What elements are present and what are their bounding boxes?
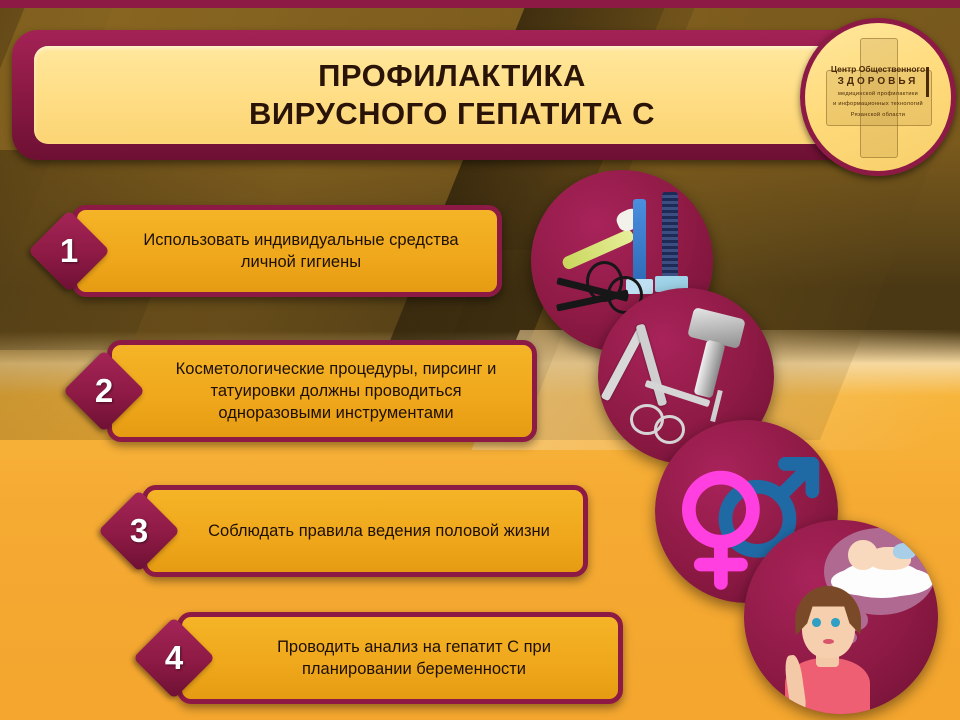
step-number-3: 3	[110, 512, 168, 550]
step-card-1: Использовать индивидуальные средства лич…	[72, 205, 502, 297]
step-number-4: 4	[145, 639, 203, 677]
step-text-2: Косметологические процедуры, пирсинг и т…	[112, 358, 532, 425]
razor-dark-icon	[662, 192, 678, 279]
title-banner: ПРОФИЛАКТИКА ВИРУСНОГО ГЕПАТИТА С	[12, 30, 892, 160]
woman-illustration	[779, 574, 876, 714]
organization-logo: Центр Общественного ЗДОРОВЬЯ медицинской…	[800, 18, 956, 176]
baby-cap-icon	[893, 543, 916, 559]
step-card-4: Проводить анализ на гепатит С при планир…	[177, 612, 623, 704]
page-title-line-2: ВИРУСНОГО ГЕПАТИТА С	[249, 95, 655, 133]
title-banner-inner: ПРОФИЛАКТИКА ВИРУСНОГО ГЕПАТИТА С	[34, 46, 870, 144]
step-item-4: Проводить анализ на гепатит С при планир…	[145, 612, 623, 704]
step-text-1: Использовать индивидуальные средства лич…	[77, 229, 497, 274]
step-item-2: Косметологические процедуры, пирсинг и т…	[75, 340, 537, 442]
razor-blue-icon	[633, 199, 646, 283]
poster-root: ПРОФИЛАКТИКА ВИРУСНОГО ГЕПАТИТА С Центр …	[0, 0, 960, 720]
top-accent-strip	[0, 0, 960, 8]
step-number-2: 2	[75, 372, 133, 410]
logo-line-1: Центр Общественного	[805, 65, 951, 74]
logo-line-3: медицинской профилактики	[805, 90, 951, 98]
illustration-pregnancy-planning	[744, 520, 938, 714]
step-card-2: Косметологические процедуры, пирсинг и т…	[107, 340, 537, 442]
logo-text-block: Центр Общественного ЗДОРОВЬЯ медицинской…	[805, 65, 951, 119]
step-item-1: Использовать индивидуальные средства лич…	[40, 205, 502, 297]
piercing-clamp-b-icon	[636, 324, 668, 408]
logo-line-5: Рязанской области	[805, 111, 951, 119]
logo-line-4: и информационных технологий	[805, 100, 951, 108]
step-number-1: 1	[40, 232, 98, 270]
logo-line-2: ЗДОРОВЬЯ	[805, 75, 951, 88]
step-text-4: Проводить анализ на гепатит С при планир…	[182, 636, 618, 681]
step-text-3: Соблюдать правила ведения половой жизни	[166, 520, 564, 542]
step-card-3: Соблюдать правила ведения половой жизни	[142, 485, 588, 577]
woman-eye-left	[812, 618, 821, 628]
step-item-3: Соблюдать правила ведения половой жизни …	[110, 485, 588, 577]
page-title-line-1: ПРОФИЛАКТИКА	[318, 57, 586, 95]
